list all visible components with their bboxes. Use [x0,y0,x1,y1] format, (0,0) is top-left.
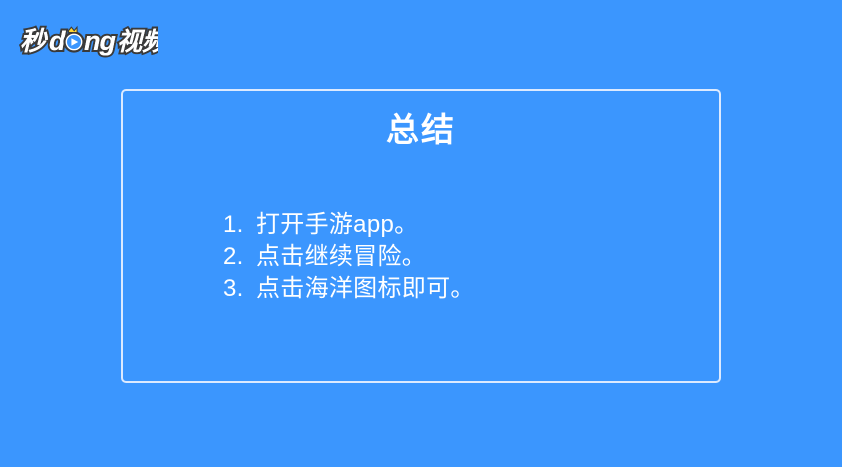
brand-logo: 秒 秒 d d ng ng 视频 视频 秒dong视频 [18,22,158,58]
summary-card: 总结 1. 打开手游app。 2. 点击继续冒险。 3. 点击海洋图标即可。 [121,89,721,383]
list-item: 2. 点击继续冒险。 [223,241,475,273]
list-item-label: 打开手游app。 [256,211,418,238]
crown-icon [69,27,78,32]
page-title: 总结 [123,108,719,152]
list-item-label: 点击继续冒险。 [256,243,426,270]
logo-char-miao: 秒 秒 [20,26,48,56]
list-item: 1. 打开手游app。 [223,209,475,241]
svg-text:ng: ng [84,26,116,56]
svg-text:视频: 视频 [117,28,158,56]
logo-text-dong: d d ng ng [49,26,116,56]
svg-text:秒: 秒 [20,26,48,56]
list-item-label: 点击海洋图标即可。 [256,275,475,302]
list-item: 3. 点击海洋图标即可。 [223,273,475,305]
list-item-marker: 3. [223,273,249,305]
brand-logo-graphic: 秒 秒 d d ng ng 视频 视频 [18,22,158,58]
list-item-marker: 1. [223,209,249,241]
summary-steps-list: 1. 打开手游app。 2. 点击继续冒险。 3. 点击海洋图标即可。 [223,209,475,305]
list-item-marker: 2. [223,241,249,273]
play-icon [65,33,84,52]
slide-canvas: { "logo": { "text_cn_prefix": "秒", "text… [0,0,842,467]
logo-chars-shipin: 视频 视频 [117,28,158,56]
